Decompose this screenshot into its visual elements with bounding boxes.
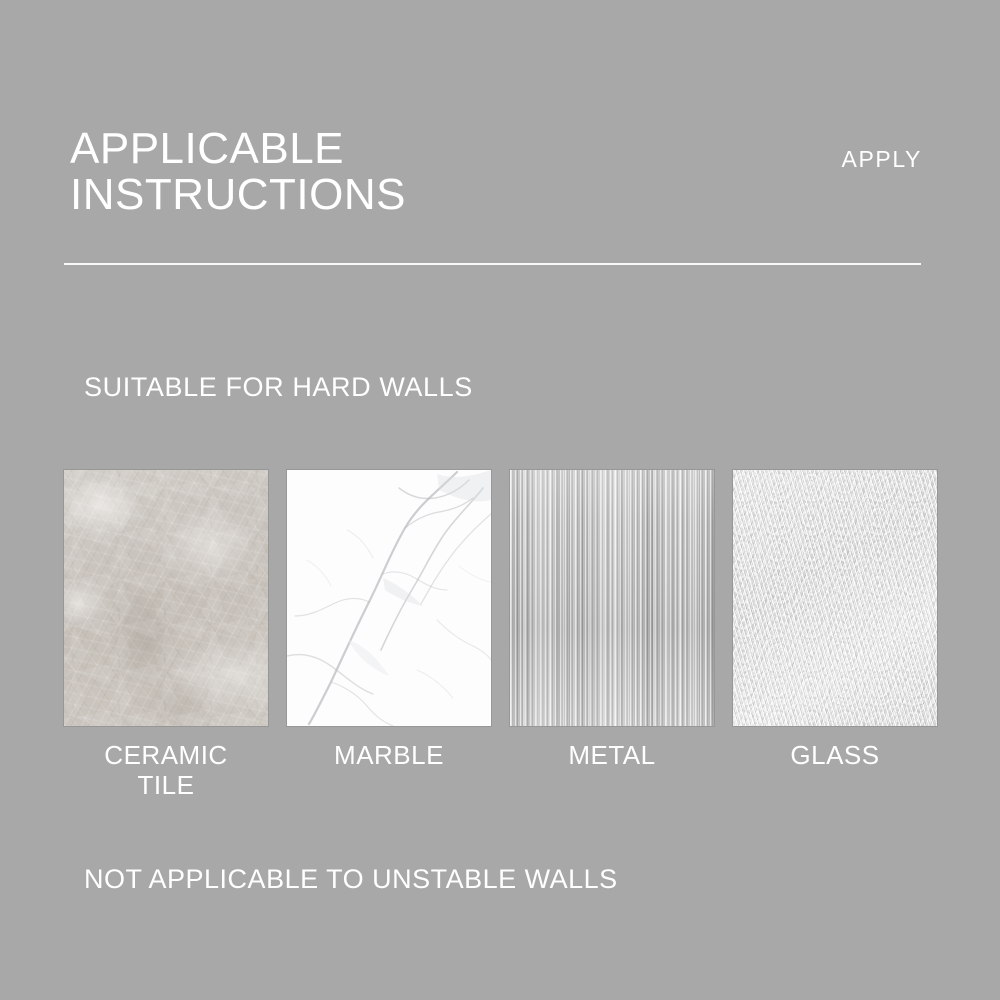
metal-swatch bbox=[510, 470, 714, 726]
apply-tag: APPLY bbox=[842, 146, 922, 173]
glass-swatch bbox=[733, 470, 937, 726]
material-item-marble: MARBLE bbox=[287, 470, 491, 800]
material-item-ceramic-tile: CERAMIC TILE bbox=[64, 470, 268, 800]
material-item-glass: GLASS bbox=[733, 470, 937, 800]
material-swatch-row: CERAMIC TILE bbox=[64, 470, 936, 800]
page-title: APPLICABLE INSTRUCTIONS bbox=[70, 126, 530, 218]
material-label-marble: MARBLE bbox=[287, 740, 491, 770]
marble-swatch bbox=[287, 470, 491, 726]
material-item-metal: METAL bbox=[510, 470, 714, 800]
suitable-heading: SUITABLE FOR HARD WALLS bbox=[84, 372, 473, 403]
material-label-ceramic-tile: CERAMIC TILE bbox=[64, 740, 268, 800]
not-applicable-note: NOT APPLICABLE TO UNSTABLE WALLS bbox=[84, 864, 618, 895]
ceramic-tile-swatch bbox=[64, 470, 268, 726]
header-divider bbox=[64, 263, 921, 265]
page-header: APPLICABLE INSTRUCTIONS APPLY bbox=[0, 0, 1000, 265]
material-label-glass: GLASS bbox=[733, 740, 937, 770]
material-label-metal: METAL bbox=[510, 740, 714, 770]
applicable-instructions-page: APPLICABLE INSTRUCTIONS APPLY SUITABLE F… bbox=[0, 0, 1000, 1000]
